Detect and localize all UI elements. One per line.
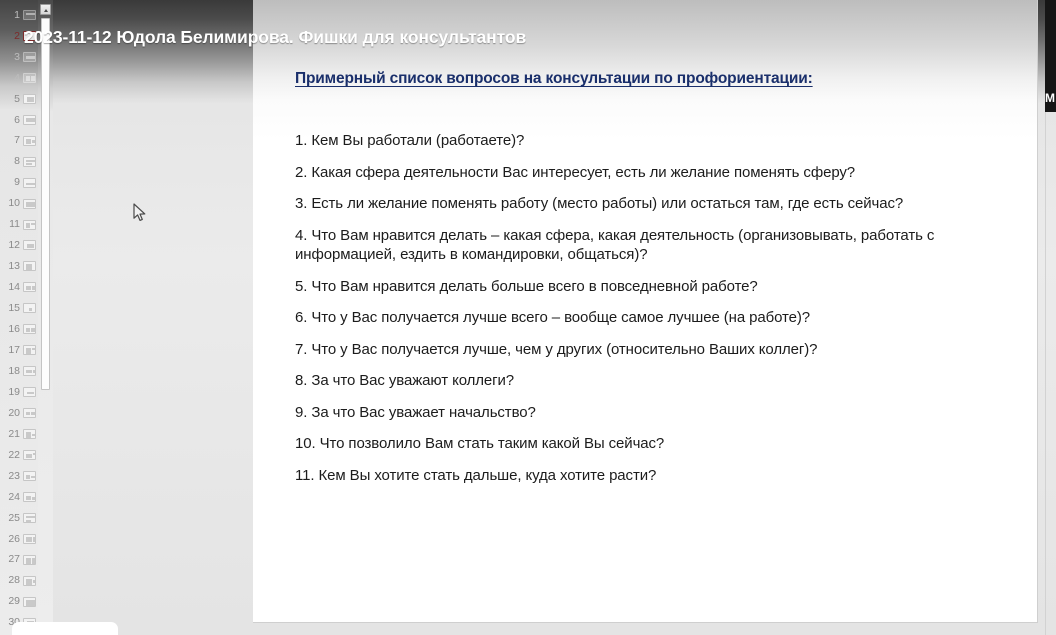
slide-rail-item[interactable]: 7 (0, 130, 38, 152)
question-item: 1. Кем Вы работали (работаете)? (295, 131, 1011, 151)
slide-number-label: 1 (0, 10, 23, 21)
slide-number-label: 4 (0, 73, 23, 84)
slide-number-label: 22 (0, 450, 23, 461)
right-edge-divider (1045, 112, 1046, 635)
slide-number-label: 26 (0, 534, 23, 545)
slide-rail-item[interactable]: 8 (0, 151, 38, 173)
slide-thumbnail-icon[interactable] (23, 282, 36, 292)
slide-thumbnail-icon[interactable] (23, 115, 36, 125)
slide-rail-item[interactable]: 15 (0, 297, 38, 319)
slide-thumbnail-icon[interactable] (23, 534, 36, 544)
slide-number-label: 15 (0, 303, 23, 314)
scrollbar-thumb[interactable] (41, 18, 50, 390)
slide-thumbnail-icon[interactable] (23, 366, 36, 376)
slide-number-label: 10 (0, 198, 23, 209)
slide-thumbnail-icon[interactable] (23, 303, 36, 313)
slide-number-label: 11 (0, 219, 23, 230)
slide-thumbnail-icon[interactable] (23, 324, 36, 334)
slide-rail-item[interactable]: 23 (0, 465, 38, 487)
slide-heading: Примерный список вопросов на консультаци… (295, 69, 995, 88)
slide-thumbnail-icon[interactable] (23, 492, 36, 502)
slide-thumbnail-icon[interactable] (23, 513, 36, 523)
bottom-tab[interactable] (12, 622, 118, 635)
slide-rail-item[interactable]: 17 (0, 339, 38, 361)
slide-number-label: 12 (0, 240, 23, 251)
slide-rail-item[interactable]: 18 (0, 360, 38, 382)
slide-thumbnail-icon[interactable] (23, 73, 36, 83)
slide-number-label: 2 (0, 31, 23, 42)
slide-number-label: 29 (0, 596, 23, 607)
slide-number-label: 16 (0, 324, 23, 335)
slide-thumbnail-icon[interactable] (23, 199, 36, 209)
slide-thumbnail-icon[interactable] (23, 387, 36, 397)
slide-number-label: 18 (0, 366, 23, 377)
slide-rail-item[interactable]: 28 (0, 570, 38, 592)
slide-thumbnail-icon[interactable] (23, 450, 36, 460)
question-item: 2. Какая сфера деятельности Вас интересу… (295, 163, 1011, 183)
slide-rail-item[interactable]: 1 (0, 4, 38, 26)
question-item: 11. Кем Вы хотите стать дальше, куда хот… (295, 466, 1011, 486)
deck-title: 2023-11-12 Юдола Белимирова. Фишки для к… (24, 27, 526, 48)
slide-rail-item[interactable]: 14 (0, 276, 38, 298)
slide-number-label: 3 (0, 52, 23, 63)
slide-thumbnail-icon[interactable] (23, 136, 36, 146)
slide-number-label: 27 (0, 554, 23, 565)
slide-number-label: 7 (0, 135, 23, 146)
slide-thumbnail-icon[interactable] (23, 157, 36, 167)
slide-number-label: 6 (0, 115, 23, 126)
slide-rail-item[interactable]: 27 (0, 549, 38, 571)
slide-panel-scrollbar[interactable] (38, 0, 53, 635)
question-item: 3. Есть ли желание поменять работу (мест… (295, 194, 1011, 214)
slide-number-label: 17 (0, 345, 23, 356)
slide-number-label: 13 (0, 261, 23, 272)
slide-thumbnail-icon[interactable] (23, 408, 36, 418)
presentation-viewer-screen: Примерный список вопросов на консультаци… (0, 0, 1056, 635)
question-item: 4. Что Вам нравится делать – какая сфера… (295, 226, 1011, 265)
slide-page[interactable]: Примерный список вопросов на консультаци… (253, 0, 1038, 623)
slide-thumbnail-icon[interactable] (23, 555, 36, 565)
slide-thumbnail-icon[interactable] (23, 52, 36, 62)
slide-thumbnail-icon[interactable] (23, 240, 36, 250)
slide-rail-item[interactable]: 12 (0, 234, 38, 256)
slide-rail-item[interactable]: 20 (0, 402, 38, 424)
slide-thumbnail-icon[interactable] (23, 345, 36, 355)
slide-number-rail[interactable]: 1234567891011121314151617181920212223242… (0, 0, 38, 635)
slide-thumbnail-icon[interactable] (23, 471, 36, 481)
slide-rail-item[interactable]: 19 (0, 381, 38, 403)
slide-thumbnail-icon[interactable] (23, 429, 36, 439)
slide-rail-item[interactable]: 26 (0, 528, 38, 550)
question-item: 7. Что у Вас получается лучше, чем у дру… (295, 340, 1011, 360)
slide-rail-item[interactable]: 21 (0, 423, 38, 445)
slide-rail-item[interactable]: 29 (0, 591, 38, 613)
slide-number-label: 28 (0, 575, 23, 586)
slide-number-label: 19 (0, 387, 23, 398)
slide-number-label: 9 (0, 177, 23, 188)
slide-number-label: 21 (0, 429, 23, 440)
question-item: 9. За что Вас уважает начальство? (295, 403, 1011, 423)
question-list: 1. Кем Вы работали (работаете)?2. Какая … (295, 131, 1011, 497)
slide-number-label: 14 (0, 282, 23, 293)
slide-thumbnail-icon[interactable] (23, 576, 36, 586)
slide-rail-item[interactable]: 3 (0, 46, 38, 68)
slide-rail-item[interactable]: 5 (0, 88, 38, 110)
question-item: 10. Что позволило Вам стать таким какой … (295, 434, 1011, 454)
slide-rail-item[interactable]: 13 (0, 255, 38, 277)
right-edge-clipped-label: M (1045, 92, 1056, 104)
slide-rail-item[interactable]: 6 (0, 109, 38, 131)
slide-thumbnail-icon[interactable] (23, 261, 36, 271)
slide-number-label: 25 (0, 513, 23, 524)
slide-rail-item[interactable]: 16 (0, 318, 38, 340)
slide-number-label: 8 (0, 156, 23, 167)
slide-number-label: 5 (0, 94, 23, 105)
slide-thumbnail-icon[interactable] (23, 178, 36, 188)
scroll-up-arrow-icon[interactable] (40, 4, 51, 15)
question-item: 8. За что Вас уважают коллеги? (295, 371, 1011, 391)
question-item: 5. Что Вам нравится делать больше всего … (295, 277, 1011, 297)
slide-rail-item[interactable]: 24 (0, 486, 38, 508)
slide-thumbnail-icon[interactable] (23, 94, 36, 104)
slide-rail-item[interactable]: 11 (0, 214, 38, 236)
slide-number-label: 23 (0, 471, 23, 482)
slide-thumbnail-icon[interactable] (23, 597, 36, 607)
question-item: 6. Что у Вас получается лучше всего – во… (295, 308, 1011, 328)
slide-rail-item[interactable]: 25 (0, 507, 38, 529)
slide-number-label: 24 (0, 492, 23, 503)
slide-rail-item[interactable]: 4 (0, 67, 38, 89)
slide-rail-item[interactable]: 10 (0, 193, 38, 215)
slide-thumbnail-icon[interactable] (23, 220, 36, 230)
slide-thumbnail-icon[interactable] (23, 10, 36, 20)
slide-number-label: 20 (0, 408, 23, 419)
slide-rail-item[interactable]: 9 (0, 172, 38, 194)
slide-rail-item[interactable]: 22 (0, 444, 38, 466)
